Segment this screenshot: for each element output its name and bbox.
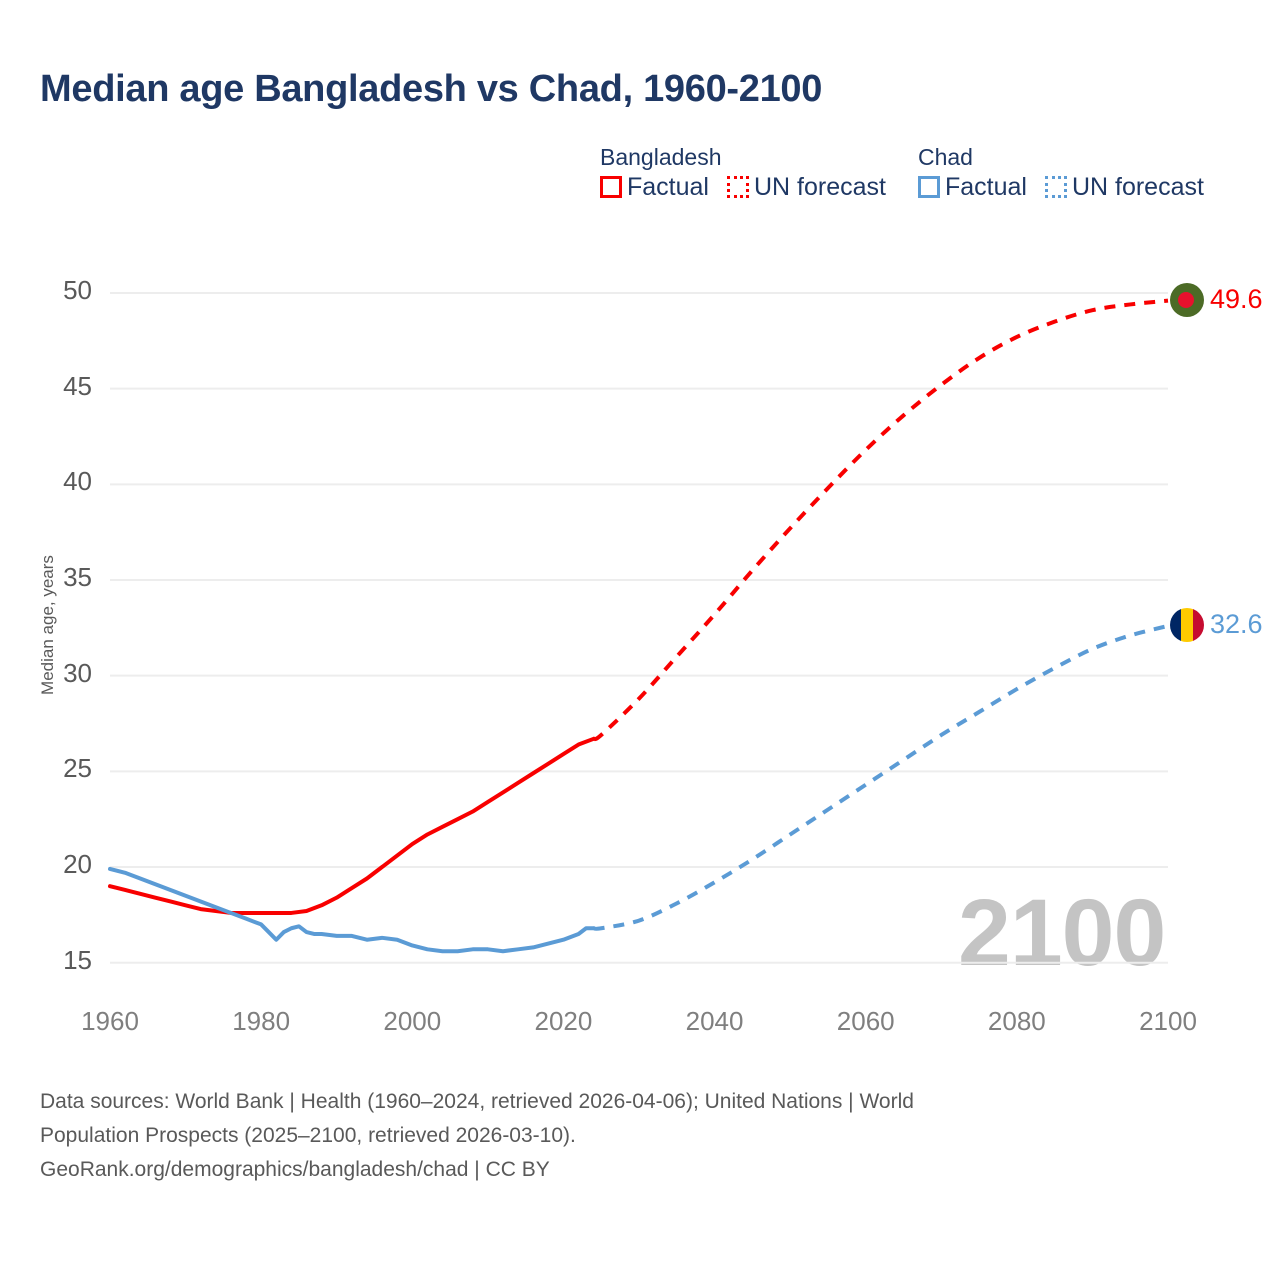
legend-label-chad-factual: Factual	[945, 174, 1027, 200]
y-tick-label: 45	[32, 371, 92, 402]
legend-label-bangladesh-factual: Factual	[627, 174, 709, 200]
legend-group-title-bangladesh: Bangladesh	[600, 144, 886, 170]
legend-label-chad-forecast: UN forecast	[1072, 174, 1204, 200]
footer-line-1: Data sources: World Bank | Health (1960–…	[40, 1085, 1230, 1119]
legend-group-title-chad: Chad	[918, 144, 1204, 170]
legend-group-chad: Chad Factual UN forecast	[918, 144, 1204, 200]
series-line-factual	[110, 739, 594, 913]
y-tick-label: 40	[32, 466, 92, 497]
chad-end-value: 32.6	[1210, 611, 1263, 638]
watermark-year: 2100	[958, 886, 1165, 981]
legend-group-bangladesh: Bangladesh Factual UN forecast	[600, 144, 886, 200]
x-tick-label: 2080	[962, 1006, 1072, 1037]
y-tick-label: 50	[32, 275, 92, 306]
page-title: Median age Bangladesh vs Chad, 1960-2100	[40, 68, 822, 111]
legend-item-bangladesh-factual[interactable]: Factual	[600, 174, 709, 200]
series-line-factual	[110, 869, 594, 951]
legend-swatch-solid-icon	[918, 176, 940, 198]
chart-legend: Bangladesh Factual UN forecast Chad Fact…	[600, 144, 1204, 200]
y-tick-label: 25	[32, 753, 92, 784]
bangladesh-end-value: 49.6	[1210, 286, 1263, 313]
y-tick-label: 35	[32, 562, 92, 593]
legend-item-chad-factual[interactable]: Factual	[918, 174, 1027, 200]
y-axis-title: Median age, years	[38, 515, 58, 735]
x-tick-label: 2100	[1113, 1006, 1223, 1037]
legend-item-chad-forecast[interactable]: UN forecast	[1045, 174, 1204, 200]
bangladesh-endpoint: 49.6	[1170, 283, 1263, 317]
x-tick-label: 1980	[206, 1006, 316, 1037]
legend-swatch-dotted-icon	[1045, 176, 1067, 198]
chart-page: Median age Bangladesh vs Chad, 1960-2100…	[0, 0, 1280, 1280]
y-tick-label: 20	[32, 849, 92, 880]
footer-line-3[interactable]: GeoRank.org/demographics/bangladesh/chad…	[40, 1153, 1230, 1187]
footer-line-2: Population Prospects (2025–2100, retriev…	[40, 1119, 1230, 1153]
x-tick-label: 2060	[811, 1006, 921, 1037]
y-tick-label: 30	[32, 658, 92, 689]
x-tick-label: 1960	[55, 1006, 165, 1037]
bangladesh-flag-icon	[1170, 283, 1204, 317]
chad-flag-icon	[1170, 608, 1204, 642]
gridlines	[110, 293, 1168, 963]
chad-endpoint: 32.6	[1170, 608, 1263, 642]
x-tick-label: 2040	[660, 1006, 770, 1037]
x-tick-label: 2000	[357, 1006, 467, 1037]
legend-swatch-dotted-icon	[727, 176, 749, 198]
legend-item-bangladesh-forecast[interactable]: UN forecast	[727, 174, 886, 200]
legend-label-bangladesh-forecast: UN forecast	[754, 174, 886, 200]
series-line-forecast	[594, 301, 1168, 740]
series-lines	[110, 301, 1168, 952]
y-tick-label: 15	[32, 945, 92, 976]
legend-swatch-solid-icon	[600, 176, 622, 198]
x-tick-label: 2020	[508, 1006, 618, 1037]
footer-sources: Data sources: World Bank | Health (1960–…	[40, 1085, 1230, 1187]
